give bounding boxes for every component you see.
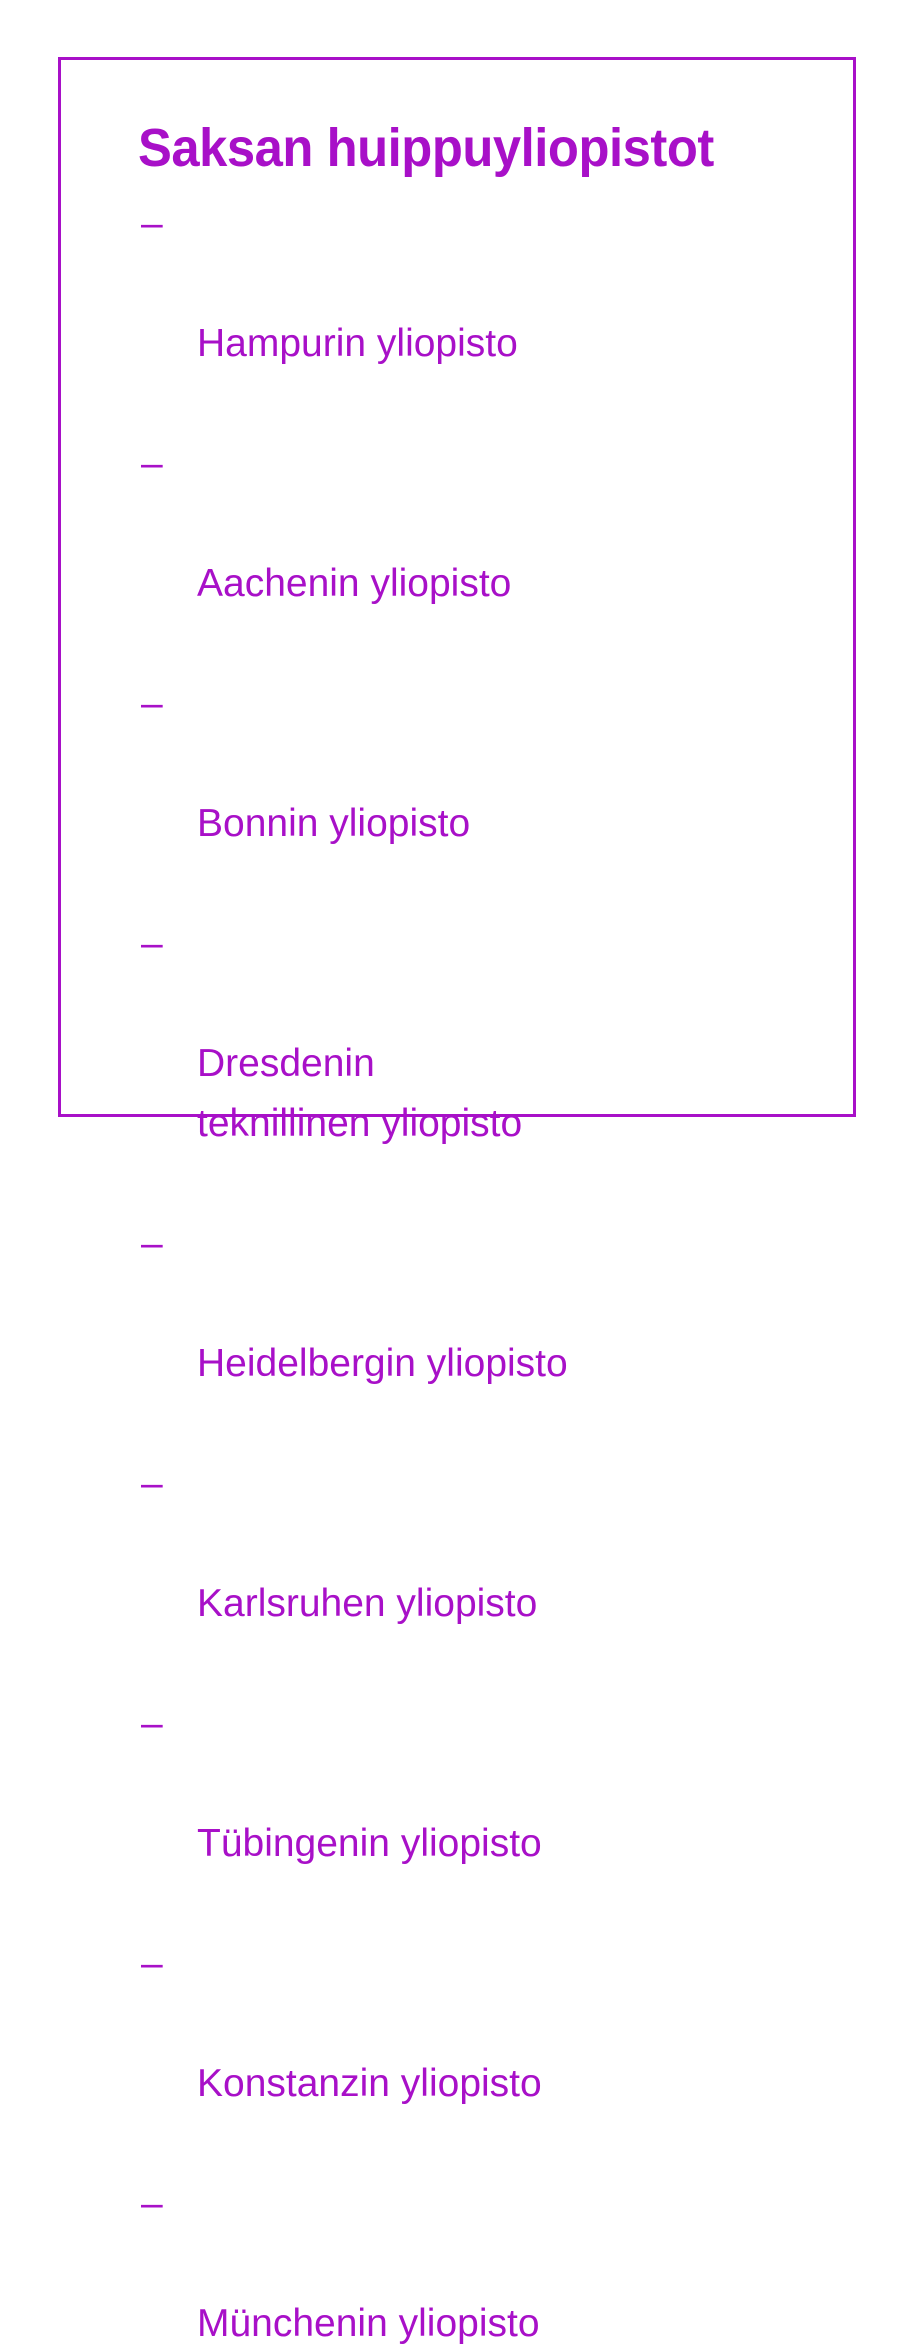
slide-canvas: Saksan huippuyliopistot – Hampurin yliop…: [0, 0, 912, 1173]
dash-bullet-icon: –: [141, 1934, 164, 1994]
dash-bullet-icon: –: [141, 914, 164, 974]
list-item-label: Bonnin yliopisto: [197, 794, 838, 854]
university-list: – Hampurin yliopisto – Aachenin yliopist…: [138, 194, 838, 2346]
dash-bullet-icon: –: [141, 674, 164, 734]
list-item-label: Tübingenin yliopisto: [197, 1814, 838, 1874]
list-item: – Tübingenin yliopisto: [138, 1694, 838, 1934]
list-item-label: Dresdenin teknillinen yliopisto: [197, 1034, 838, 1154]
list-item: – Aachenin yliopisto: [138, 434, 838, 674]
list-item-label: Konstanzin yliopisto: [197, 2054, 838, 2114]
slide-content: Saksan huippuyliopistot – Hampurin yliop…: [138, 118, 838, 2346]
list-item: – Dresdenin teknillinen yliopisto: [138, 914, 838, 1214]
dash-bullet-icon: –: [141, 434, 164, 494]
list-item: – Bonnin yliopisto: [138, 674, 838, 914]
dash-bullet-icon: –: [141, 2174, 164, 2234]
dash-bullet-icon: –: [141, 194, 164, 254]
list-item-label: Hampurin yliopisto: [197, 314, 838, 374]
dash-bullet-icon: –: [141, 1214, 164, 1274]
list-item-label: Heidelbergin yliopisto: [197, 1334, 838, 1394]
page-title: Saksan huippuyliopistot: [138, 118, 796, 178]
dash-bullet-icon: –: [141, 1694, 164, 1754]
list-item-label: Aachenin yliopisto: [197, 554, 838, 614]
list-item: – Heidelbergin yliopisto: [138, 1214, 838, 1454]
list-item: – Karlsruhen yliopisto: [138, 1454, 838, 1694]
dash-bullet-icon: –: [141, 1454, 164, 1514]
list-item-label: Münchenin yliopisto: [197, 2294, 838, 2346]
list-item: – Hampurin yliopisto: [138, 194, 838, 434]
list-item-label: Karlsruhen yliopisto: [197, 1574, 838, 1634]
list-item: – Konstanzin yliopisto: [138, 1934, 838, 2174]
list-item: – Münchenin yliopisto: [138, 2174, 838, 2346]
